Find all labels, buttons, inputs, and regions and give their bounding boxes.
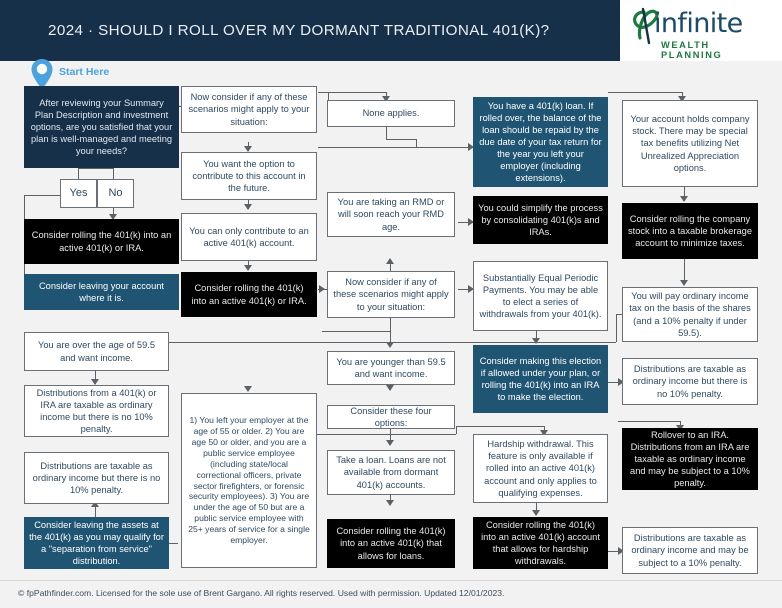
arrow-down-icon [386,385,394,391]
arrow-down-icon [532,510,540,516]
node-now-consider-scenarios-1[interactable]: Now consider if any of these scenarios m… [181,86,317,133]
node-now-consider-scenarios-2[interactable]: Now consider if any of these scenarios m… [327,271,455,318]
arrow-right-icon [319,285,325,293]
connector [618,421,680,422]
connector [113,168,114,179]
connector [386,139,416,140]
node-consider-leaving-account[interactable]: Consider leaving your account where it i… [24,274,179,310]
connector [318,147,473,148]
connector [456,426,544,427]
arrow-down-icon [244,265,252,271]
node-rolling-401k-allows-hardship[interactable]: Consider rolling the 401(k) into an acti… [473,517,608,569]
flowchart-page: 2024 · SHOULD I ROLL OVER MY DORMANT TRA… [0,0,782,608]
connector [616,314,617,342]
connector [328,92,329,100]
arrow-down-icon [532,338,540,344]
connector [390,434,456,435]
connector [328,92,386,93]
arrow-down-icon [386,440,394,446]
node-take-a-loan[interactable]: Take a loan. Loans are not available fro… [327,450,455,495]
node-distributions-may-be-subject-penalty[interactable]: Distributions are taxable as ordinary in… [622,527,758,574]
node-rolling-401k-allows-loans[interactable]: Consider rolling the 401(k) into an acti… [327,519,455,568]
node-younger-595-want-income[interactable]: You are younger than 59.5 and want incom… [327,351,455,385]
arrow-down-icon [244,204,252,210]
logo-wordmark: infinite [654,8,743,39]
node-none-applies[interactable]: None applies. [327,100,455,127]
connector [78,168,114,169]
node-yes[interactable]: Yes [60,179,97,208]
arrow-up-icon [386,258,394,264]
arrow-down-icon [680,280,688,286]
node-account-holds-company-stock[interactable]: Your account holds company stock. There … [622,100,758,187]
node-rolling-company-stock-brokerage[interactable]: Consider rolling the company stock into … [622,203,758,259]
node-only-contribute-active-401k[interactable]: You can only contribute to an active 401… [181,213,317,261]
node-simplify-consolidating[interactable]: You could simplify the process by consol… [473,196,608,244]
node-consider-four-options[interactable]: Consider these four options: [327,405,455,429]
connector [390,318,391,331]
connector [456,426,457,434]
logo-tagline: WEALTH PLANNING [661,40,774,60]
node-distributions-401k-ira-no-penalty[interactable]: Distributions from a 401(k) or IRA are t… [24,385,169,437]
node-distributions-ordinary-income-no-penalty-2[interactable]: Distributions are taxable as ordinary in… [622,358,758,405]
node-distributions-ordinary-income-no-penalty[interactable]: Distributions are taxable as ordinary in… [24,452,169,504]
node-separation-from-service[interactable]: Consider leaving the assets at the 401(k… [24,517,169,569]
node-plan-satisfaction-question[interactable]: After reviewing your Summary Plan Descri… [24,86,179,168]
connector [620,92,682,93]
page-title: 2024 · SHOULD I ROLL OVER MY DORMANT TRA… [48,22,608,39]
node-age-exception-scenarios[interactable]: 1) You left your employer at the age of … [181,393,317,568]
arrow-down-icon [244,386,252,392]
node-consider-making-election[interactable]: Consider making this election if allowed… [473,345,608,413]
node-ordinary-income-tax-on-basis[interactable]: You will pay ordinary income tax on the … [622,287,758,342]
node-hardship-withdrawal[interactable]: Hardship withdrawal. This feature is onl… [473,434,608,503]
node-have-401k-loan[interactable]: You have a 401(k) loan. If rolled over, … [473,97,608,187]
connector [318,92,328,93]
node-no[interactable]: No [97,179,134,208]
footer-copyright: © fpPathfinder.com. Licensed for the sol… [18,588,504,598]
node-consider-rolling-active-401k-ira-1[interactable]: Consider rolling the 401(k) into an acti… [24,219,179,264]
connector [386,127,387,139]
start-here-label: Start Here [59,66,109,78]
footer-divider [0,580,782,581]
connector [416,139,417,147]
node-taking-rmd[interactable]: You are taking an RMD or will soon reach… [327,192,455,237]
node-rollover-to-an-ira[interactable]: Rollover to an IRA. Distributions from a… [622,428,758,490]
node-want-option-contribute[interactable]: You want the option to contribute to thi… [181,152,317,200]
node-over-595-want-income[interactable]: You are over the age of 59.5 and want in… [24,332,169,371]
node-substantially-equal-periodic-payments[interactable]: Substantially Equal Periodic Payments. Y… [473,261,608,331]
arrow-down-icon [680,196,688,202]
connector [166,342,616,343]
node-consider-rolling-active-401k-ira-2[interactable]: Consider rolling the 401(k) into an acti… [181,272,317,317]
infinite-wealth-planning-logo: infinite WEALTH PLANNING [628,6,774,56]
connector [322,331,390,332]
arrow-down-icon [386,500,394,506]
logo-zone: infinite WEALTH PLANNING [620,0,782,61]
